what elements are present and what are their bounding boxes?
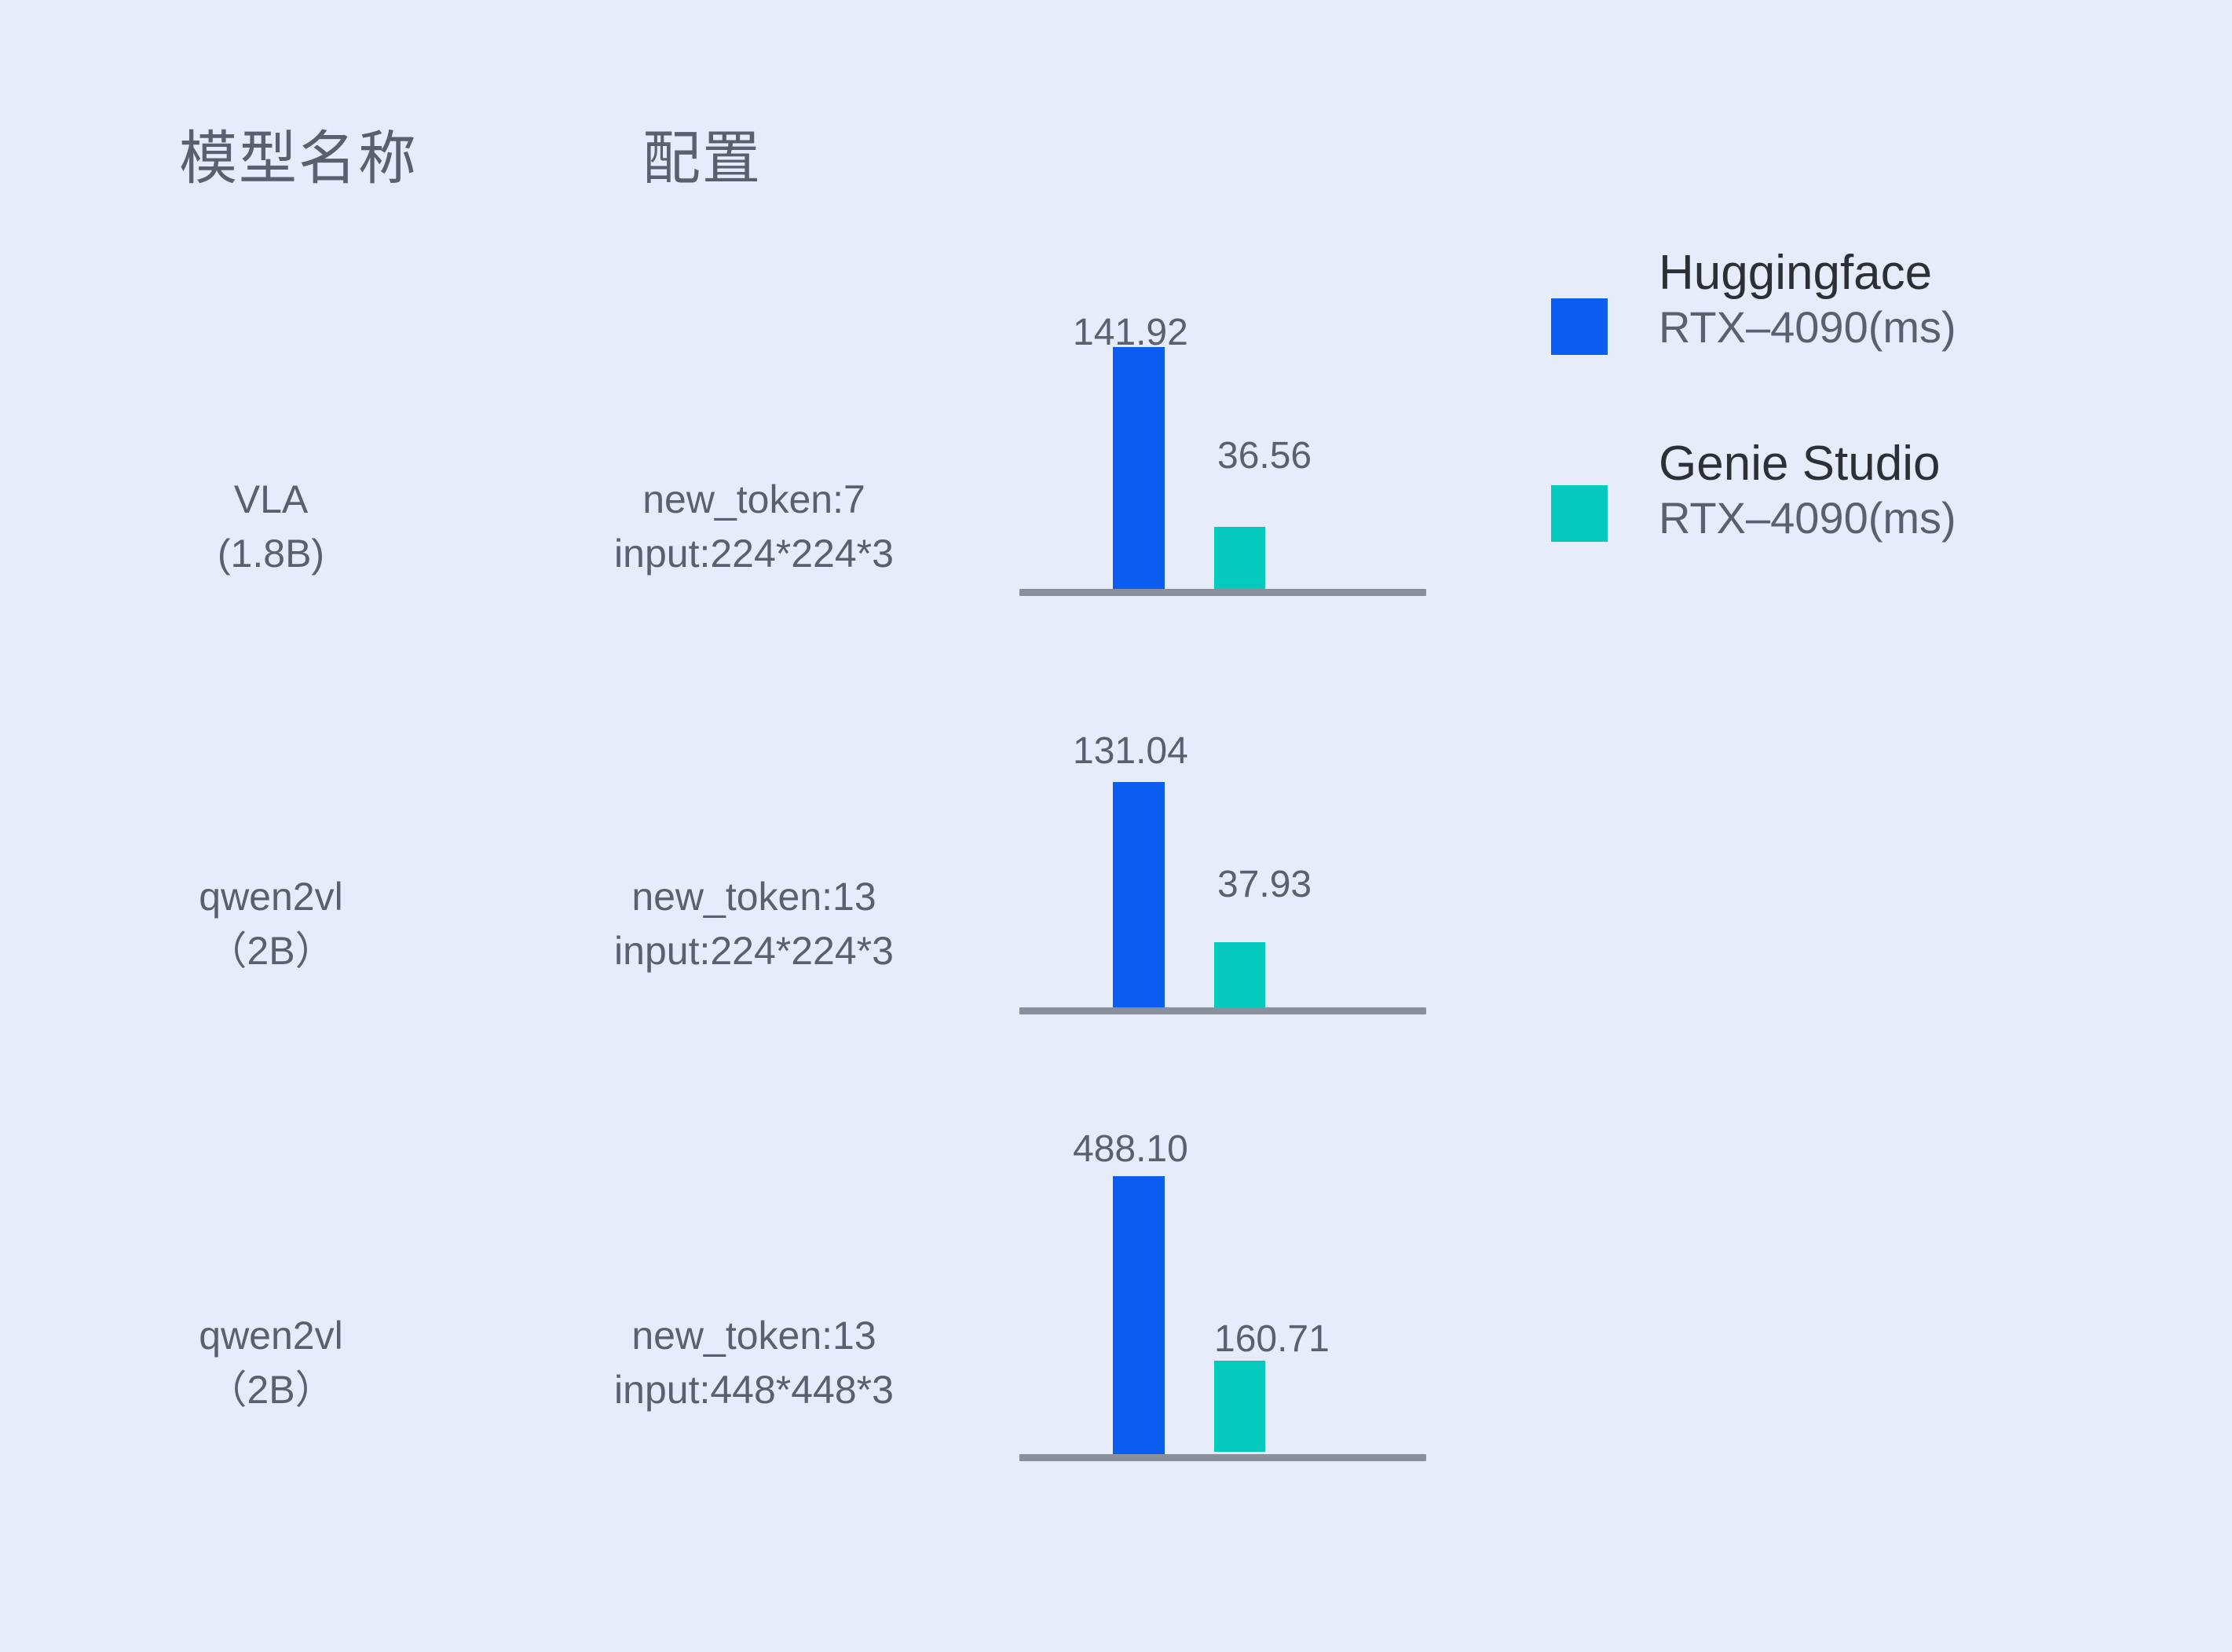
benchmark-chart: 模型名称 配置 VLA (1.8B) new_token:7 input:224… [0, 0, 2232, 1652]
legend-label-group: Huggingface RTX–4090(ms) [1659, 247, 1956, 355]
model-name-line: qwen2vl [149, 1309, 393, 1363]
config-input-line: input:448*448*3 [479, 1363, 1029, 1417]
row-baseline [1019, 589, 1426, 596]
config-token-line: new_token:13 [479, 870, 1029, 924]
chart-legend: Huggingface RTX–4090(ms) Genie Studio RT… [1551, 247, 2101, 585]
config-token-line: new_token:13 [479, 1309, 1029, 1363]
bar-genie-studio [1214, 527, 1265, 589]
row-config-label: new_token:7 input:224*224*3 [479, 473, 1029, 581]
genie-value-label: 37.93 [1217, 866, 1312, 904]
legend-item-genie-studio[interactable]: Genie Studio RTX–4090(ms) [1551, 416, 2101, 585]
huggingface-value-label: 131.04 [1073, 733, 1188, 770]
genie-value-label: 36.56 [1217, 437, 1312, 475]
model-size-line: （2B） [149, 1363, 393, 1417]
model-size-line: （2B） [149, 924, 393, 978]
row-baseline [1019, 1454, 1426, 1461]
legend-square-icon [1551, 485, 1608, 542]
model-size-line: (1.8B) [149, 527, 393, 581]
row-model-label: VLA (1.8B) [149, 473, 393, 581]
legend-item-huggingface[interactable]: Huggingface RTX–4090(ms) [1551, 247, 2101, 416]
row-baseline [1019, 1007, 1426, 1014]
legend-series-name: Huggingface [1659, 247, 1956, 300]
huggingface-value-label: 141.92 [1073, 314, 1188, 352]
model-name-line: qwen2vl [149, 870, 393, 924]
chart-row: qwen2vl （2B） new_token:13 input:448*448*… [0, 1146, 2232, 1476]
model-name-line: VLA [149, 473, 393, 527]
legend-label-group: Genie Studio RTX–4090(ms) [1659, 438, 1956, 546]
row-config-label: new_token:13 input:448*448*3 [479, 1309, 1029, 1417]
row-plot: 131.04 37.93 [1019, 726, 1428, 1017]
genie-value-label: 160.71 [1214, 1321, 1330, 1358]
row-plot: 488.10 160.71 [1019, 1146, 1428, 1460]
bar-huggingface [1113, 1176, 1165, 1460]
bar-genie-studio [1214, 1361, 1265, 1452]
row-plot: 141.92 36.56 [1019, 306, 1428, 597]
bar-huggingface [1113, 347, 1165, 589]
row-model-label: qwen2vl （2B） [149, 870, 393, 978]
config-token-line: new_token:7 [479, 473, 1029, 527]
bar-genie-studio [1214, 942, 1265, 1007]
chart-row: qwen2vl （2B） new_token:13 input:224*224*… [0, 726, 2232, 1040]
legend-series-sub: RTX–4090(ms) [1659, 300, 1956, 355]
huggingface-value-label: 488.10 [1073, 1131, 1188, 1168]
config-input-line: input:224*224*3 [479, 924, 1029, 978]
row-config-label: new_token:13 input:224*224*3 [479, 870, 1029, 978]
legend-square-icon [1551, 298, 1608, 355]
config-input-line: input:224*224*3 [479, 527, 1029, 581]
legend-series-name: Genie Studio [1659, 438, 1956, 491]
legend-series-sub: RTX–4090(ms) [1659, 491, 1956, 546]
row-model-label: qwen2vl （2B） [149, 1309, 393, 1417]
bar-huggingface [1113, 782, 1165, 1007]
